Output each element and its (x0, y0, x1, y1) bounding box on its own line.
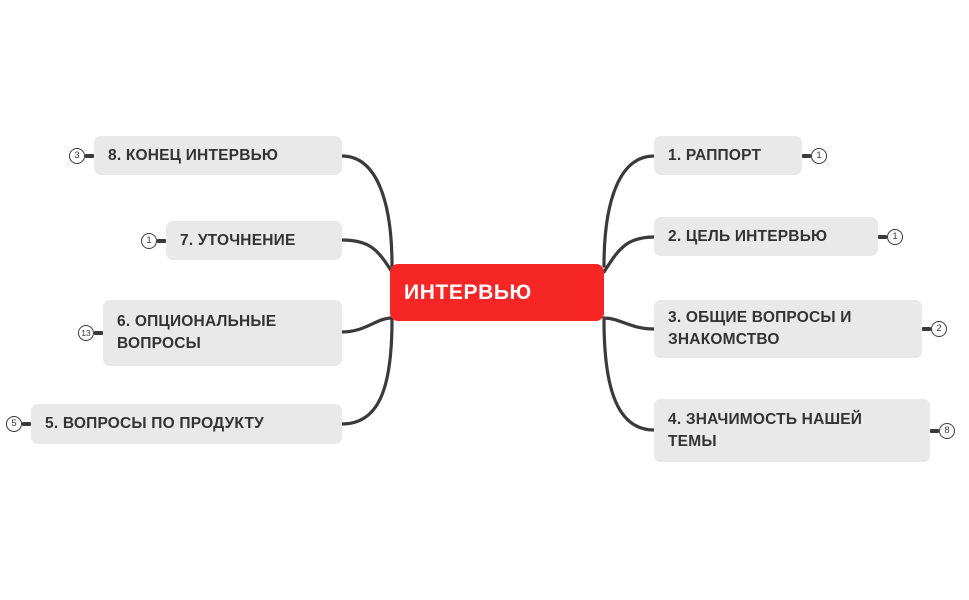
branch-node-2-label: 2. ЦЕЛЬ ИНТЕРВЬЮ (668, 226, 864, 248)
badge-node-8[interactable]: 3 (69, 147, 94, 165)
center-node[interactable]: ИНТЕРВЬЮ (390, 264, 604, 321)
badge-count: 1 (887, 229, 903, 245)
badge-stub-icon (94, 331, 103, 334)
branch-node-6-line1: 6. ОПЦИОНАЛЬНЫЕ (117, 313, 276, 330)
badge-node-5[interactable]: 5 (6, 415, 31, 433)
badge-stub-icon (22, 422, 31, 425)
branch-node-1-label: 1. РАППОРТ (668, 145, 788, 167)
edge-center-to-node-2 (604, 237, 654, 272)
badge-count: 8 (939, 423, 955, 439)
badge-stub-icon (85, 154, 94, 157)
badge-stub-icon (157, 239, 166, 242)
branch-node-4[interactable]: 4. ЗНАЧИМОСТЬ НАШЕЙ ТЕМЫ (654, 399, 930, 462)
branch-node-3-line1: 3. ОБЩИЕ ВОПРОСЫ И (668, 309, 852, 326)
badge-node-4[interactable]: 8 (930, 422, 955, 440)
edge-center-to-node-4 (604, 320, 654, 430)
edge-center-to-node-6 (342, 318, 392, 332)
edge-center-to-node-8 (342, 156, 392, 266)
edge-center-to-node-7 (342, 240, 392, 272)
badge-count: 5 (6, 416, 22, 432)
edge-center-to-node-5 (342, 320, 392, 424)
mind-map-canvas: ИНТЕРВЬЮ 1. РАППОРТ 1 2. ЦЕЛЬ ИНТЕРВЬЮ 1… (0, 0, 969, 600)
branch-node-8[interactable]: 8. КОНЕЦ ИНТЕРВЬЮ (94, 136, 342, 175)
badge-stub-icon (802, 154, 811, 157)
branch-node-6-label: 6. ОПЦИОНАЛЬНЫЕ ВОПРОСЫ (117, 311, 328, 355)
badge-stub-icon (930, 429, 939, 432)
branch-node-8-label: 8. КОНЕЦ ИНТЕРВЬЮ (108, 145, 328, 167)
badge-node-7[interactable]: 1 (141, 232, 166, 250)
branch-node-4-label: 4. ЗНАЧИМОСТЬ НАШЕЙ ТЕМЫ (668, 409, 916, 453)
badge-count: 1 (811, 148, 827, 164)
branch-node-6[interactable]: 6. ОПЦИОНАЛЬНЫЕ ВОПРОСЫ (103, 300, 342, 366)
branch-node-2[interactable]: 2. ЦЕЛЬ ИНТЕРВЬЮ (654, 217, 878, 256)
badge-count: 2 (931, 321, 947, 337)
branch-node-5[interactable]: 5. ВОПРОСЫ ПО ПРОДУКТУ (31, 404, 342, 444)
branch-node-7[interactable]: 7. УТОЧНЕНИЕ (166, 221, 342, 260)
branch-node-4-line2: ТЕМЫ (668, 433, 717, 450)
badge-count: 3 (69, 148, 85, 164)
branch-node-3-line2: ЗНАКОМСТВО (668, 331, 780, 348)
branch-node-3[interactable]: 3. ОБЩИЕ ВОПРОСЫ И ЗНАКОМСТВО (654, 300, 922, 358)
branch-node-3-label: 3. ОБЩИЕ ВОПРОСЫ И ЗНАКОМСТВО (668, 307, 908, 351)
badge-node-2[interactable]: 1 (878, 228, 903, 246)
branch-node-4-line1: 4. ЗНАЧИМОСТЬ НАШЕЙ (668, 411, 862, 428)
badge-count: 1 (141, 233, 157, 249)
center-node-label: ИНТЕРВЬЮ (404, 278, 590, 308)
badge-stub-icon (922, 327, 931, 330)
badge-node-6[interactable]: 13 (78, 324, 103, 342)
edge-center-to-node-1 (604, 156, 654, 266)
badge-stub-icon (878, 235, 887, 238)
branch-node-5-label: 5. ВОПРОСЫ ПО ПРОДУКТУ (45, 413, 328, 435)
branch-node-7-label: 7. УТОЧНЕНИЕ (180, 230, 328, 252)
badge-node-3[interactable]: 2 (922, 320, 947, 338)
branch-node-6-line2: ВОПРОСЫ (117, 335, 201, 352)
edge-center-to-node-3 (604, 318, 654, 329)
badge-node-1[interactable]: 1 (802, 147, 827, 165)
branch-node-1[interactable]: 1. РАППОРТ (654, 136, 802, 175)
badge-count: 13 (78, 325, 94, 341)
